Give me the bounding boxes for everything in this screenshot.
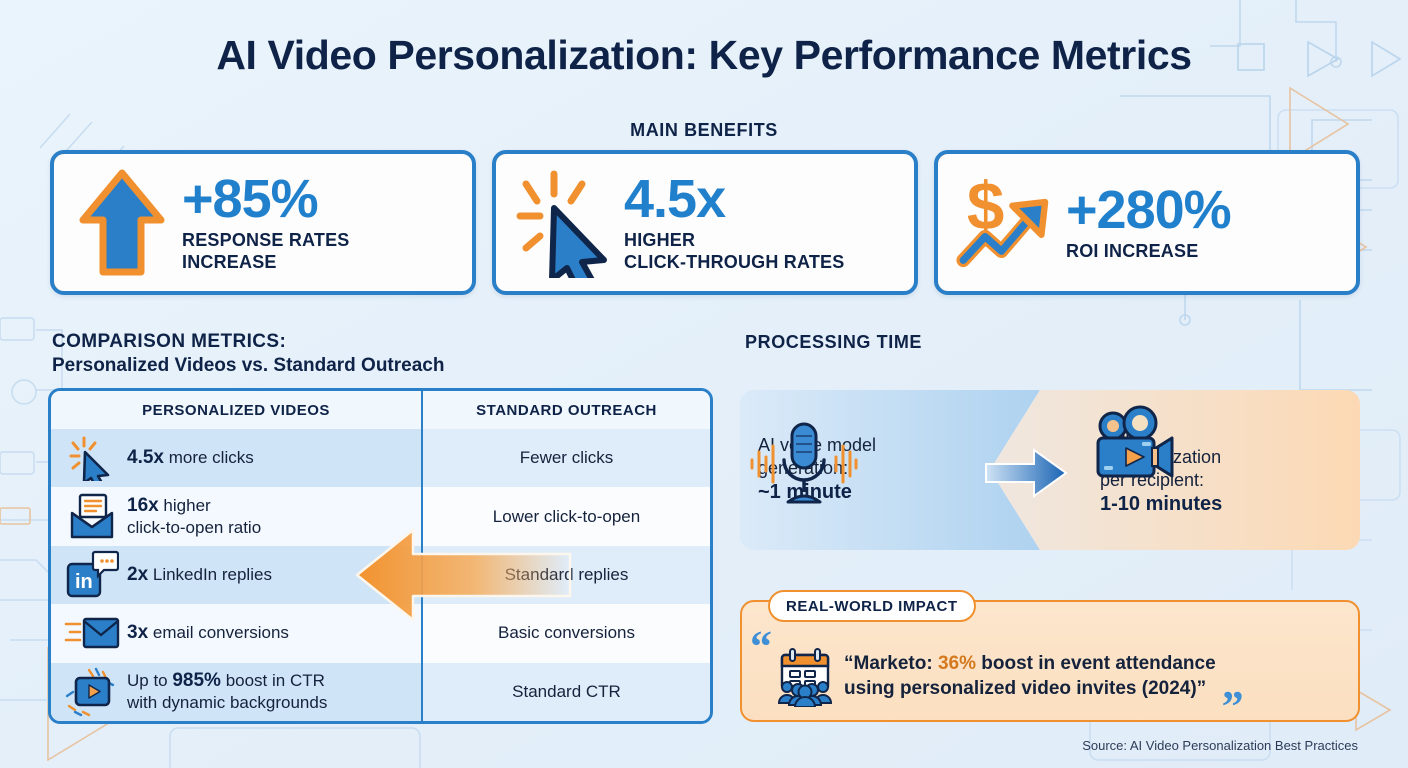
row-line2: click-to-open ratio bbox=[127, 518, 261, 538]
linkedin-message-icon: in bbox=[61, 550, 123, 600]
table-cell-left: 3x email conversions bbox=[51, 604, 423, 662]
main-benefits-cards: +85% RESPONSE RATES INCREASE bbox=[50, 150, 1360, 295]
benefit-desc-line1: ROI INCREASE bbox=[1066, 241, 1231, 262]
table-header-row: PERSONALIZED VIDEOS STANDARD OUTREACH bbox=[51, 391, 710, 429]
row-right-text: Fewer clicks bbox=[520, 448, 614, 468]
table-cell-right: Standard replies bbox=[423, 546, 710, 604]
table-cell-right: Standard CTR bbox=[423, 663, 710, 721]
row-rest: higher bbox=[159, 496, 211, 515]
quote-open-icon: “ bbox=[750, 634, 772, 660]
quote-line2: using personalized video invites (2024)” bbox=[844, 676, 1216, 701]
benefit-desc-line1: HIGHER bbox=[624, 230, 844, 251]
table-cell-left: Up to 985% boost in CTR with dynamic bac… bbox=[51, 663, 423, 721]
table-cell-text: 3x email conversions bbox=[123, 622, 289, 645]
benefit-card-text: +85% RESPONSE RATES INCREASE bbox=[172, 172, 350, 272]
comparison-table: PERSONALIZED VIDEOS STANDARD OUTREACH bbox=[48, 388, 713, 724]
quote-part2: boost in event attendance bbox=[976, 653, 1216, 674]
benefit-desc-line2: CLICK-THROUGH RATES bbox=[624, 252, 844, 273]
page-title: AI Video Personalization: Key Performanc… bbox=[0, 32, 1408, 79]
quote-part1: “Marketo: bbox=[844, 653, 938, 674]
row-right-text: Standard replies bbox=[505, 565, 629, 585]
row-rest: email conversions bbox=[148, 623, 289, 642]
table-row: 4.5x more clicks Fewer clicks bbox=[51, 429, 710, 487]
cursor-click-icon bbox=[514, 168, 614, 278]
benefit-card-response-rates: +85% RESPONSE RATES INCREASE bbox=[50, 150, 476, 295]
email-send-icon bbox=[61, 612, 123, 654]
benefit-value: +85% bbox=[182, 172, 350, 226]
table-row: 3x email conversions Basic conversions bbox=[51, 604, 710, 662]
quote-close-icon: ” bbox=[1222, 694, 1244, 720]
table-cell-right: Lower click-to-open bbox=[423, 487, 710, 545]
impact-quote: “Marketo: 36% boost in event attendance … bbox=[838, 651, 1218, 701]
main-benefits-label: MAIN BENEFITS bbox=[0, 120, 1408, 141]
table-cell-right: Fewer clicks bbox=[423, 429, 710, 487]
benefit-card-roi: $ +280% ROI INCREASE bbox=[934, 150, 1360, 295]
row-rest: boost in CTR bbox=[221, 671, 325, 690]
row-value: 985% bbox=[172, 670, 221, 691]
benefit-value: +280% bbox=[1066, 183, 1231, 237]
infographic-page: AI Video Personalization: Key Performanc… bbox=[0, 0, 1408, 768]
table-cell-right: Basic conversions bbox=[423, 604, 710, 662]
cursor-click-icon bbox=[61, 435, 123, 481]
impact-badge: REAL-WORLD IMPACT bbox=[768, 590, 976, 622]
calendar-audience-icon bbox=[772, 645, 838, 707]
row-prefix: Up to bbox=[127, 671, 172, 690]
comparison-heading: COMPARISON METRICS: Personalized Videos … bbox=[52, 330, 444, 379]
table-cell-left: in 2x LinkedIn replies bbox=[51, 546, 423, 604]
processing-step-video: Video personalization per recipient: 1-1… bbox=[1090, 404, 1360, 536]
column-header-standard: STANDARD OUTREACH bbox=[476, 402, 657, 419]
benefit-card-text: +280% ROI INCREASE bbox=[1056, 183, 1231, 262]
table-cell-text: 16x higher click-to-open ratio bbox=[123, 495, 261, 538]
comparison-heading-line2: Personalized Videos vs. Standard Outreac… bbox=[52, 354, 444, 378]
row-value: 16x bbox=[127, 495, 159, 516]
table-cell-left: 4.5x more clicks bbox=[51, 429, 423, 487]
benefit-desc-line2: INCREASE bbox=[182, 252, 350, 273]
row-right-text: Standard CTR bbox=[512, 682, 621, 702]
benefit-desc-line1: RESPONSE RATES bbox=[182, 230, 350, 251]
table-cell-left: 16x higher click-to-open ratio bbox=[51, 487, 423, 545]
row-right-text: Basic conversions bbox=[498, 623, 635, 643]
row-line2: with dynamic backgrounds bbox=[127, 693, 327, 713]
up-arrow-icon bbox=[72, 168, 172, 278]
step-value: 1-10 minutes bbox=[1100, 492, 1222, 518]
dollar-growth-icon: $ bbox=[956, 168, 1056, 278]
table-header-cell-left: PERSONALIZED VIDEOS bbox=[51, 391, 423, 429]
row-value: 4.5x bbox=[127, 447, 164, 468]
table-header-cell-right: STANDARD OUTREACH bbox=[423, 391, 710, 429]
table-cell-text: 4.5x more clicks bbox=[123, 447, 254, 470]
row-value: 3x bbox=[127, 622, 148, 643]
flow-arrow-icon bbox=[984, 446, 1068, 500]
open-envelope-icon bbox=[61, 493, 123, 541]
table-cell-text: Up to 985% boost in CTR with dynamic bac… bbox=[123, 670, 327, 713]
table-cell-text: 2x LinkedIn replies bbox=[123, 564, 272, 587]
svg-text:in: in bbox=[75, 571, 93, 593]
video-play-icon bbox=[61, 666, 123, 718]
column-header-personalized: PERSONALIZED VIDEOS bbox=[142, 402, 330, 419]
row-rest: LinkedIn replies bbox=[148, 565, 272, 584]
table-row: Up to 985% boost in CTR with dynamic bac… bbox=[51, 663, 710, 721]
table-row: in 2x LinkedIn replies Standard replies bbox=[51, 546, 710, 604]
row-rest: more clicks bbox=[164, 448, 254, 467]
table-row: 16x higher click-to-open ratio Lower cli… bbox=[51, 487, 710, 545]
benefit-card-text: 4.5x HIGHER CLICK-THROUGH RATES bbox=[614, 172, 844, 272]
benefit-value: 4.5x bbox=[624, 172, 844, 226]
benefit-card-click-through: 4.5x HIGHER CLICK-THROUGH RATES bbox=[492, 150, 918, 295]
processing-time-banner: AI voice model generation: ~1 minute bbox=[740, 390, 1360, 550]
source-note: Source: AI Video Personalization Best Pr… bbox=[1082, 738, 1358, 753]
quote-highlight: 36% bbox=[938, 653, 976, 674]
impact-body: “ bbox=[742, 628, 1362, 724]
comparison-heading-line1: COMPARISON METRICS: bbox=[52, 330, 444, 354]
row-right-text: Lower click-to-open bbox=[493, 507, 640, 527]
row-value: 2x bbox=[127, 564, 148, 585]
processing-time-label: PROCESSING TIME bbox=[745, 332, 922, 353]
